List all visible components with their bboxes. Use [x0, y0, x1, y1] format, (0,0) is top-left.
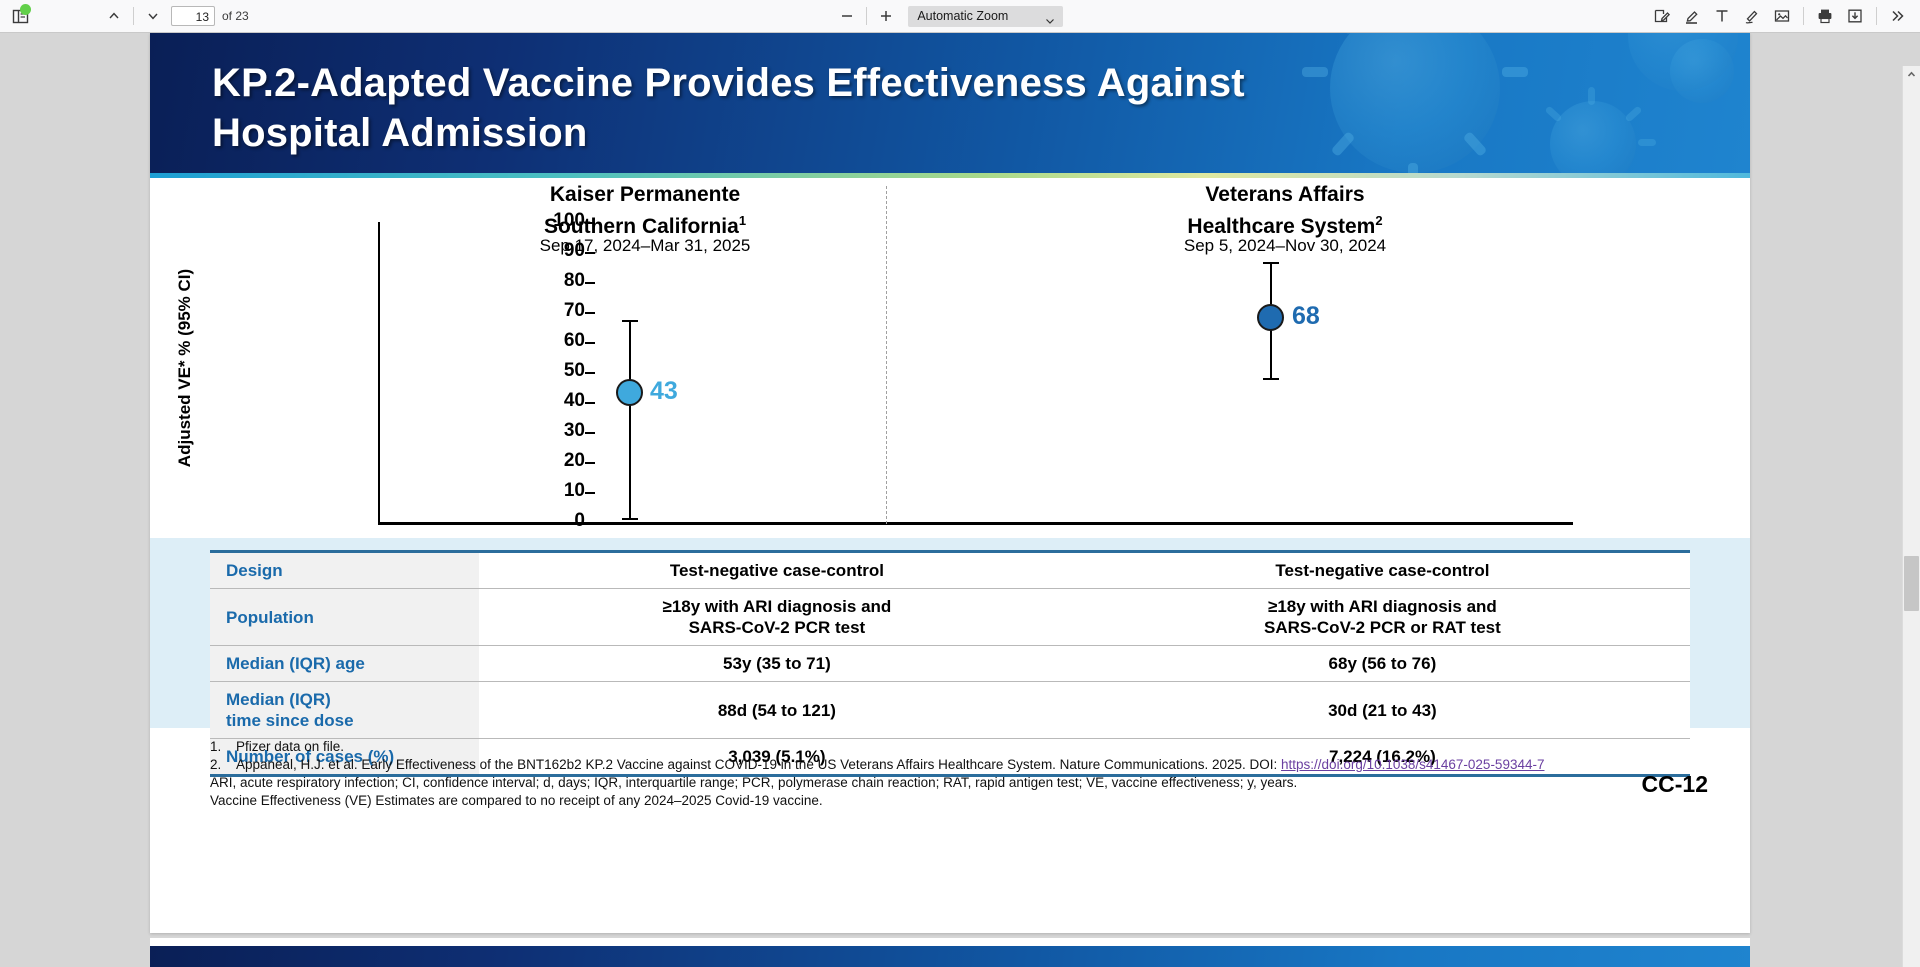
cell-population-kpsc: ≥18y with ARI diagnosis and SARS-CoV-2 P…	[479, 589, 1075, 646]
page-number-input[interactable]: 13	[171, 6, 215, 26]
y-tick-label: 100	[525, 210, 585, 232]
footnote-2-text: Appaneal, H.J. et al. Early Effectivenes…	[236, 757, 1281, 772]
cell-population-kpsc-line2: SARS-CoV-2 PCR test	[689, 618, 866, 637]
toolbar-divider	[866, 7, 867, 25]
y-tick-label: 40	[525, 390, 585, 412]
footnotes-block: 1.Pfizer data on file. 2.Appaneal, H.J. …	[210, 738, 1700, 810]
zoom-level-select[interactable]: Automatic Zoom	[908, 6, 1063, 27]
notification-dot-icon	[20, 4, 31, 15]
row-header-time-since-dose-line1: Median (IQR)	[226, 690, 331, 709]
row-header-time-since-dose-line2: time since dose	[226, 711, 354, 730]
sidebar-toggle-icon[interactable]	[6, 3, 34, 29]
data-point-kpsc	[616, 379, 643, 406]
table-row: Median (IQR) age 53y (35 to 71) 68y (56 …	[210, 646, 1690, 682]
vertical-scrollbar[interactable]	[1902, 66, 1920, 967]
kpsc-footnote-marker: 1	[739, 213, 746, 228]
ci-cap-lower-va	[1263, 378, 1279, 380]
ve-comparison-note: Vaccine Effectiveness (VE) Estimates are…	[210, 792, 1700, 810]
pdf-page-13: KP.2-Adapted Vaccine Provides Effectiven…	[150, 33, 1750, 933]
y-tick-label: 50	[525, 360, 585, 382]
slide-banner: KP.2-Adapted Vaccine Provides Effectiven…	[150, 33, 1750, 173]
cell-population-va-line1: ≥18y with ARI diagnosis and	[1268, 597, 1497, 616]
highlight-icon[interactable]	[1678, 3, 1706, 29]
more-tools-icon[interactable]	[1884, 3, 1912, 29]
y-tick-label: 70	[525, 300, 585, 322]
y-tick-label: 0	[525, 510, 585, 532]
y-tick-label: 80	[525, 270, 585, 292]
y-tick-label: 20	[525, 450, 585, 472]
next-slide-banner	[150, 946, 1750, 967]
footnote-1-text: Pfizer data on file.	[236, 739, 344, 754]
page-total-label: of 23	[222, 9, 249, 23]
cell-design-va: Test-negative case-control	[1075, 552, 1690, 589]
row-header-population: Population	[210, 589, 479, 646]
toolbar-divider	[1803, 7, 1804, 25]
toolbar-right-group	[1648, 3, 1920, 29]
y-axis-label: Adjusted VE* % (95% CI)	[175, 238, 195, 498]
slide-title: KP.2-Adapted Vaccine Provides Effectiven…	[212, 58, 1262, 158]
footnote-2: 2.Appaneal, H.J. et al. Early Effectiven…	[210, 756, 1700, 774]
table-row: Population ≥18y with ARI diagnosis and S…	[210, 589, 1690, 646]
zoom-level-label: Automatic Zoom	[917, 6, 1008, 27]
slide-id-label: CC-12	[1642, 771, 1708, 798]
zoom-in-button[interactable]	[872, 3, 900, 29]
footnote-2-number: 2.	[210, 756, 236, 774]
image-icon[interactable]	[1768, 3, 1796, 29]
cell-population-va: ≥18y with ARI diagnosis and SARS-CoV-2 P…	[1075, 589, 1690, 646]
ci-bar-kpsc	[629, 320, 631, 520]
chart-column-period-va: Sep 5, 2024–Nov 30, 2024	[1075, 236, 1495, 256]
cell-population-kpsc-line1: ≥18y with ARI diagnosis and	[663, 597, 892, 616]
table-row: Design Test-negative case-control Test-n…	[210, 552, 1690, 589]
next-page-button[interactable]	[139, 3, 167, 29]
y-axis-tick-group: 100 90 80 70 60 50 40 30 20 10 0	[480, 178, 585, 498]
chart-column-title-va: Veterans Affairs Healthcare System2	[1075, 182, 1495, 240]
text-icon[interactable]	[1708, 3, 1736, 29]
cell-design-kpsc: Test-negative case-control	[479, 552, 1075, 589]
cell-median-age-kpsc: 53y (35 to 71)	[479, 646, 1075, 682]
y-tick-label: 60	[525, 330, 585, 352]
va-footnote-marker: 2	[1375, 213, 1382, 228]
pdf-toolbar: 13 of 23 Automatic Zoom	[0, 0, 1920, 33]
row-header-design: Design	[210, 552, 479, 589]
va-title-line2: Healthcare System	[1187, 215, 1375, 238]
cell-median-age-va: 68y (56 to 76)	[1075, 646, 1690, 682]
toolbar-zoom-group: Automatic Zoom	[249, 3, 1648, 29]
edit-annotate-icon[interactable]	[1648, 3, 1676, 29]
footnote-1-number: 1.	[210, 738, 236, 756]
toolbar-divider	[133, 7, 134, 25]
print-icon[interactable]	[1811, 3, 1839, 29]
previous-page-button[interactable]	[100, 3, 128, 29]
data-point-va	[1257, 304, 1284, 331]
download-icon[interactable]	[1841, 3, 1869, 29]
ci-cap-lower-kpsc	[622, 518, 638, 520]
y-axis-line	[378, 222, 380, 524]
scrollbar-thumb[interactable]	[1904, 556, 1919, 611]
chevron-down-icon	[1045, 12, 1055, 33]
abbreviations-note: ARI, acute respiratory infection; CI, co…	[210, 774, 1700, 792]
pdf-page-14-preview	[150, 938, 1750, 967]
x-axis-line	[378, 522, 1573, 525]
row-header-time-since-dose: Median (IQR) time since dose	[210, 682, 479, 739]
footnote-1: 1.Pfizer data on file.	[210, 738, 1700, 756]
toolbar-divider	[1876, 7, 1877, 25]
draw-icon[interactable]	[1738, 3, 1766, 29]
y-tick-label: 90	[525, 240, 585, 262]
panel-divider	[886, 186, 887, 524]
data-label-va: 68	[1292, 302, 1320, 331]
toolbar-left-group: 13 of 23	[0, 3, 249, 29]
ci-cap-upper-va	[1263, 262, 1279, 264]
vaccine-effectiveness-chart: Kaiser Permanente Southern California1 S…	[150, 178, 1750, 538]
row-header-median-age: Median (IQR) age	[210, 646, 479, 682]
ci-cap-upper-kpsc	[622, 320, 638, 322]
table-row: Median (IQR) time since dose 88d (54 to …	[210, 682, 1690, 739]
y-tick-label: 30	[525, 420, 585, 442]
y-tick-label: 10	[525, 480, 585, 502]
doi-link[interactable]: https://doi.org/10.1038/s41467-025-59344…	[1281, 757, 1544, 772]
zoom-out-button[interactable]	[833, 3, 861, 29]
cell-time-since-dose-kpsc: 88d (54 to 121)	[479, 682, 1075, 739]
pdf-viewer-canvas[interactable]: KP.2-Adapted Vaccine Provides Effectiven…	[0, 33, 1920, 967]
cell-time-since-dose-va: 30d (21 to 43)	[1075, 682, 1690, 739]
va-title-line1: Veterans Affairs	[1205, 183, 1364, 206]
scroll-up-icon[interactable]	[1903, 66, 1920, 83]
data-label-kpsc: 43	[650, 377, 678, 406]
cell-population-va-line2: SARS-CoV-2 PCR or RAT test	[1264, 618, 1501, 637]
